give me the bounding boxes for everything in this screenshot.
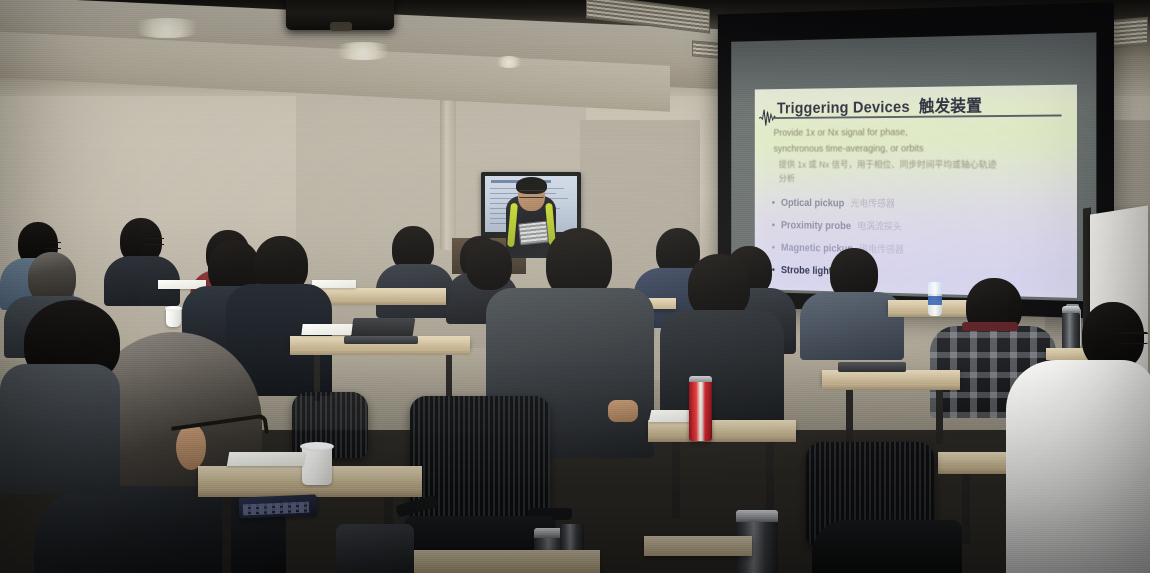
papers bbox=[301, 324, 352, 335]
laptop-base bbox=[838, 362, 906, 372]
desk-leg bbox=[962, 474, 970, 544]
desk-leg bbox=[766, 442, 774, 514]
paper-cup bbox=[302, 446, 332, 485]
bullet-text-en: Strobe light bbox=[781, 265, 832, 277]
desk bbox=[390, 550, 600, 573]
soda-can-lid bbox=[689, 376, 712, 382]
slide-lead-cjk-2: 分析 bbox=[779, 173, 1068, 188]
bullet-text-en: Proximity probe bbox=[781, 220, 851, 232]
classroom-photo-scene: Triggering Devices触发装置 Provide 1x or Nx … bbox=[0, 0, 1150, 573]
bullet-text-cn: 电涡流探头 bbox=[857, 218, 902, 233]
glasses-icon bbox=[519, 190, 544, 198]
attendee-torso bbox=[1006, 360, 1150, 573]
ceiling-light bbox=[330, 42, 396, 60]
bullet-text-cn: 光电传感器 bbox=[850, 195, 894, 210]
bullet-text-en: Optical pickup bbox=[781, 198, 844, 210]
presentation-slide: Triggering Devices触发装置 Provide 1x or Nx … bbox=[755, 85, 1077, 298]
attendee-head bbox=[466, 240, 512, 290]
projection-screen-frame: Triggering Devices触发装置 Provide 1x or Nx … bbox=[718, 2, 1114, 319]
papers bbox=[227, 452, 305, 466]
glasses-icon bbox=[146, 238, 164, 245]
projector-lens-icon bbox=[330, 22, 352, 31]
bag bbox=[336, 524, 414, 573]
slide-lead-line-2: synchronous time-averaging, or orbits bbox=[773, 141, 1067, 156]
soda-can bbox=[689, 379, 712, 441]
desk-leg bbox=[672, 442, 680, 518]
thermos-cap bbox=[1062, 306, 1080, 313]
desk-edge bbox=[648, 435, 796, 442]
glasses-icon bbox=[1118, 332, 1148, 344]
desk-leg bbox=[846, 390, 853, 446]
attendee-hand bbox=[608, 400, 638, 422]
laptop-lid bbox=[351, 318, 416, 336]
collar bbox=[962, 322, 1018, 331]
desk-leg bbox=[936, 390, 943, 444]
desk bbox=[644, 536, 752, 556]
desk bbox=[822, 370, 960, 384]
slide-bullet-optical-pickup: • Optical pickup 光电传感器 bbox=[772, 195, 1068, 212]
slide-title-english: Triggering Devices bbox=[777, 99, 910, 117]
bottle-label bbox=[928, 296, 942, 305]
bullet-marker: • bbox=[772, 242, 775, 253]
slide-lead-line-1: Provide 1x or Nx signal for phase, bbox=[773, 124, 1067, 140]
bullet-marker: • bbox=[772, 220, 775, 231]
slide-bullet-proximity-probe: • Proximity probe 电涡流探头 bbox=[772, 217, 1068, 235]
bullet-marker: • bbox=[772, 265, 775, 276]
glasses-icon bbox=[44, 242, 61, 249]
slide-title-chinese: 触发装置 bbox=[919, 97, 982, 116]
thermos-cap bbox=[736, 510, 778, 522]
slide-body: Provide 1x or Nx signal for phase, synch… bbox=[772, 124, 1068, 283]
slide-bullet-magnetic-pickup: • Magnetic pickup 磁电传感器 bbox=[772, 240, 1068, 260]
paper-cup-rim bbox=[165, 306, 182, 311]
slide-lead-cjk-1: 提供 1x 或 Nx 信号，用于相位、同步时间平均或轴心轨迹 bbox=[779, 159, 1068, 173]
desk-leg bbox=[222, 497, 231, 573]
ceiling-light bbox=[494, 56, 524, 68]
projection-screen-surface: Triggering Devices触发装置 Provide 1x or Nx … bbox=[731, 32, 1096, 301]
ceiling-light bbox=[128, 18, 206, 38]
desk-leg bbox=[446, 355, 452, 399]
slide-bullet-strobe-light: • Strobe light 频闪灯 bbox=[772, 262, 1068, 283]
handheld-instrument bbox=[518, 221, 549, 246]
thermos-flask bbox=[1062, 312, 1080, 350]
bullet-marker: • bbox=[772, 198, 775, 209]
attendee-torso bbox=[0, 364, 120, 494]
paper-cup-rim bbox=[300, 442, 334, 451]
laptop-base bbox=[344, 336, 418, 344]
desk bbox=[648, 420, 796, 435]
chair-base bbox=[812, 520, 962, 573]
